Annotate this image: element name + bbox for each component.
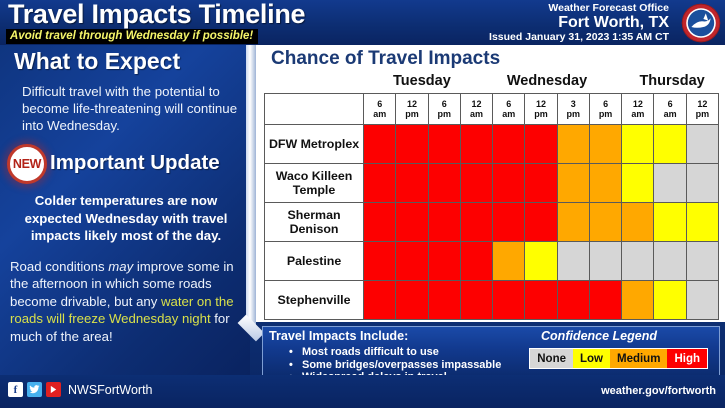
legend-swatch-medium: Medium [610,349,667,368]
left-info-panel: What to Expect Difficult travel with the… [0,45,250,375]
time-ampm: pm [590,109,621,120]
impact-cell-r3-c8 [622,242,654,281]
impact-cell-r0-c10 [686,125,718,164]
twitter-icon[interactable] [27,382,42,397]
what-to-expect-text: Difficult travel with the potential to b… [22,83,240,134]
table-row: DFW Metroplex [265,125,719,164]
facebook-icon[interactable]: f [8,382,23,397]
row-label-2: Sherman Denison [265,203,364,242]
new-badge-label: NEW [13,157,41,171]
issued-timestamp: Issued January 31, 2023 1:35 AM CT [489,31,669,44]
social-links[interactable]: f NWSFortWorth [8,382,153,397]
what-to-expect-heading: What to Expect [14,48,180,75]
impact-cell-r0-c7 [589,125,621,164]
impact-cell-r1-c1 [396,164,428,203]
road-conditions-text: Road conditions may improve some in the … [10,258,242,345]
page-title: Travel Impacts Timeline [8,0,305,30]
time-header-1: 12pm [396,94,428,125]
bullet-dot-icon: • [289,346,302,359]
time-header-5: 12pm [525,94,557,125]
time-header-10: 12pm [686,94,718,125]
road-text-emphasis: may [108,259,133,274]
time-hour: 12 [396,99,427,110]
social-handle[interactable]: NWSFortWorth [68,383,153,397]
row-label-1: Waco Killeen Temple [265,164,364,203]
time-header-4: 6am [493,94,525,125]
impact-cell-r2-c9 [654,203,686,242]
impact-cell-r2-c0 [364,203,396,242]
important-update-text: Colder temperatures are now expected Wed… [12,192,240,245]
impact-cell-r4-c2 [428,281,460,320]
time-header-0: 6am [364,94,396,125]
impact-cell-r3-c2 [428,242,460,281]
header-subtitle: Avoid travel through Wednesday if possib… [10,30,253,42]
impact-cell-r1-c8 [622,164,654,203]
table-row: Stephenville [265,281,719,320]
time-hour: 12 [687,99,718,110]
impact-cell-r4-c7 [589,281,621,320]
header-warning-strip: Avoid travel through Wednesday if possib… [6,29,258,44]
impact-cell-r4-c10 [686,281,718,320]
impact-cell-r2-c10 [686,203,718,242]
time-header-7: 6pm [589,94,621,125]
impact-cell-r4-c3 [460,281,492,320]
panel-bevel-edge [246,45,256,331]
time-header-8: 12am [622,94,654,125]
time-hour: 6 [364,99,395,110]
impact-cell-r1-c5 [525,164,557,203]
impact-cell-r2-c5 [525,203,557,242]
impacts-summary-panel: Travel Impacts Include: •Most roads diff… [262,326,720,381]
impact-cell-r2-c3 [460,203,492,242]
row-label-3: Palestine [265,242,364,281]
time-hour: 6 [590,99,621,110]
time-header-9: 6am [654,94,686,125]
impact-cell-r1-c2 [428,164,460,203]
impact-cell-r2-c7 [589,203,621,242]
day-label-wednesday: Wednesday [469,73,625,89]
impact-cell-r2-c8 [622,203,654,242]
confidence-legend: NoneLowMediumHigh [529,348,708,369]
time-ampm: pm [429,109,460,120]
graphic-canvas: Travel Impacts Timeline Avoid travel thr… [0,0,725,408]
row-label-4: Stephenville [265,281,364,320]
impact-cell-r0-c1 [396,125,428,164]
time-ampm: am [364,109,395,120]
impact-cell-r4-c5 [525,281,557,320]
impact-cell-r0-c2 [428,125,460,164]
youtube-icon[interactable] [46,382,61,397]
impact-cell-r0-c6 [557,125,589,164]
table-row: Waco Killeen Temple [265,164,719,203]
impact-cell-r4-c4 [493,281,525,320]
impact-cell-r4-c6 [557,281,589,320]
impact-cell-r0-c0 [364,125,396,164]
day-label-thursday: Thursday [625,73,719,89]
time-ampm: pm [396,109,427,120]
office-city: Fort Worth, TX [489,14,669,31]
time-ampm: am [461,109,492,120]
impact-cell-r0-c4 [493,125,525,164]
impact-cell-r3-c9 [654,242,686,281]
time-hour: 3 [558,99,589,110]
legend-title: Confidence Legend [541,329,657,343]
impact-cell-r4-c8 [622,281,654,320]
time-header-row: 6am12pm6pm12am6am12pm3pm6pm12am6am12pm [265,94,719,125]
new-badge: NEW [7,144,47,184]
legend-swatch-none: None [530,349,573,368]
time-ampm: am [654,109,685,120]
legend-swatch-low: Low [573,349,610,368]
impacts-chart-card: Chance of Travel Impacts TuesdayWednesda… [256,45,725,322]
impact-cell-r3-c10 [686,242,718,281]
impact-cell-r3-c6 [557,242,589,281]
time-ampm: pm [558,109,589,120]
impact-cell-r3-c0 [364,242,396,281]
time-ampm: am [622,109,653,120]
website-link[interactable]: weather.gov/fortworth [601,385,716,397]
impact-cell-r1-c0 [364,164,396,203]
day-label-tuesday: Tuesday [375,73,469,89]
impact-cell-r0-c3 [460,125,492,164]
impact-cell-r3-c3 [460,242,492,281]
impact-cell-r0-c9 [654,125,686,164]
impact-cell-r3-c5 [525,242,557,281]
bullet-dot-icon: • [289,359,302,372]
impact-cell-r2-c1 [396,203,428,242]
summary-title: Travel Impacts Include: [269,329,408,343]
impact-cell-r3-c4 [493,242,525,281]
header-bar: Travel Impacts Timeline Avoid travel thr… [0,0,725,45]
summary-bullet-0: •Most roads difficult to use [289,346,501,359]
impact-cell-r1-c6 [557,164,589,203]
impact-cell-r1-c4 [493,164,525,203]
office-label: Weather Forecast Office [489,2,669,14]
impacts-rows: DFW MetroplexWaco Killeen TempleSherman … [265,125,719,320]
time-hour: 12 [525,99,556,110]
impact-cell-r4-c0 [364,281,396,320]
road-text-a: Road conditions [10,259,108,274]
impact-cell-r0-c5 [525,125,557,164]
table-row: Palestine [265,242,719,281]
impact-cell-r4-c1 [396,281,428,320]
time-hour: 12 [622,99,653,110]
chart-title: Chance of Travel Impacts [271,48,500,70]
time-header-3: 12am [460,94,492,125]
office-info: Weather Forecast Office Fort Worth, TX I… [489,2,669,44]
time-ampm: pm [525,109,556,120]
important-update-heading: Important Update [50,151,220,175]
time-hour: 6 [654,99,685,110]
time-ampm: am [493,109,524,120]
impact-cell-r3-c7 [589,242,621,281]
table-row: Sherman Denison [265,203,719,242]
impact-cell-r1-c10 [686,164,718,203]
legend-swatch-high: High [667,349,707,368]
corner-cell [265,94,364,125]
impact-cell-r0-c8 [622,125,654,164]
time-header-2: 6pm [428,94,460,125]
impact-cell-r2-c4 [493,203,525,242]
impact-cell-r1-c9 [654,164,686,203]
nws-seal-icon [681,3,721,43]
impact-cell-r1-c3 [460,164,492,203]
time-header-6: 3pm [557,94,589,125]
impact-cell-r2-c6 [557,203,589,242]
impacts-grid: 6am12pm6pm12am6am12pm3pm6pm12am6am12pm D… [264,93,719,320]
time-ampm: pm [687,109,718,120]
summary-bullet-1: •Some bridges/overpasses impassable [289,359,501,372]
time-hour: 6 [493,99,524,110]
impact-cell-r2-c2 [428,203,460,242]
impact-cell-r3-c1 [396,242,428,281]
row-label-0: DFW Metroplex [265,125,364,164]
day-header-row: TuesdayWednesdayThursday [256,73,725,93]
impact-cell-r1-c7 [589,164,621,203]
time-hour: 6 [429,99,460,110]
time-hour: 12 [461,99,492,110]
impact-cell-r4-c9 [654,281,686,320]
